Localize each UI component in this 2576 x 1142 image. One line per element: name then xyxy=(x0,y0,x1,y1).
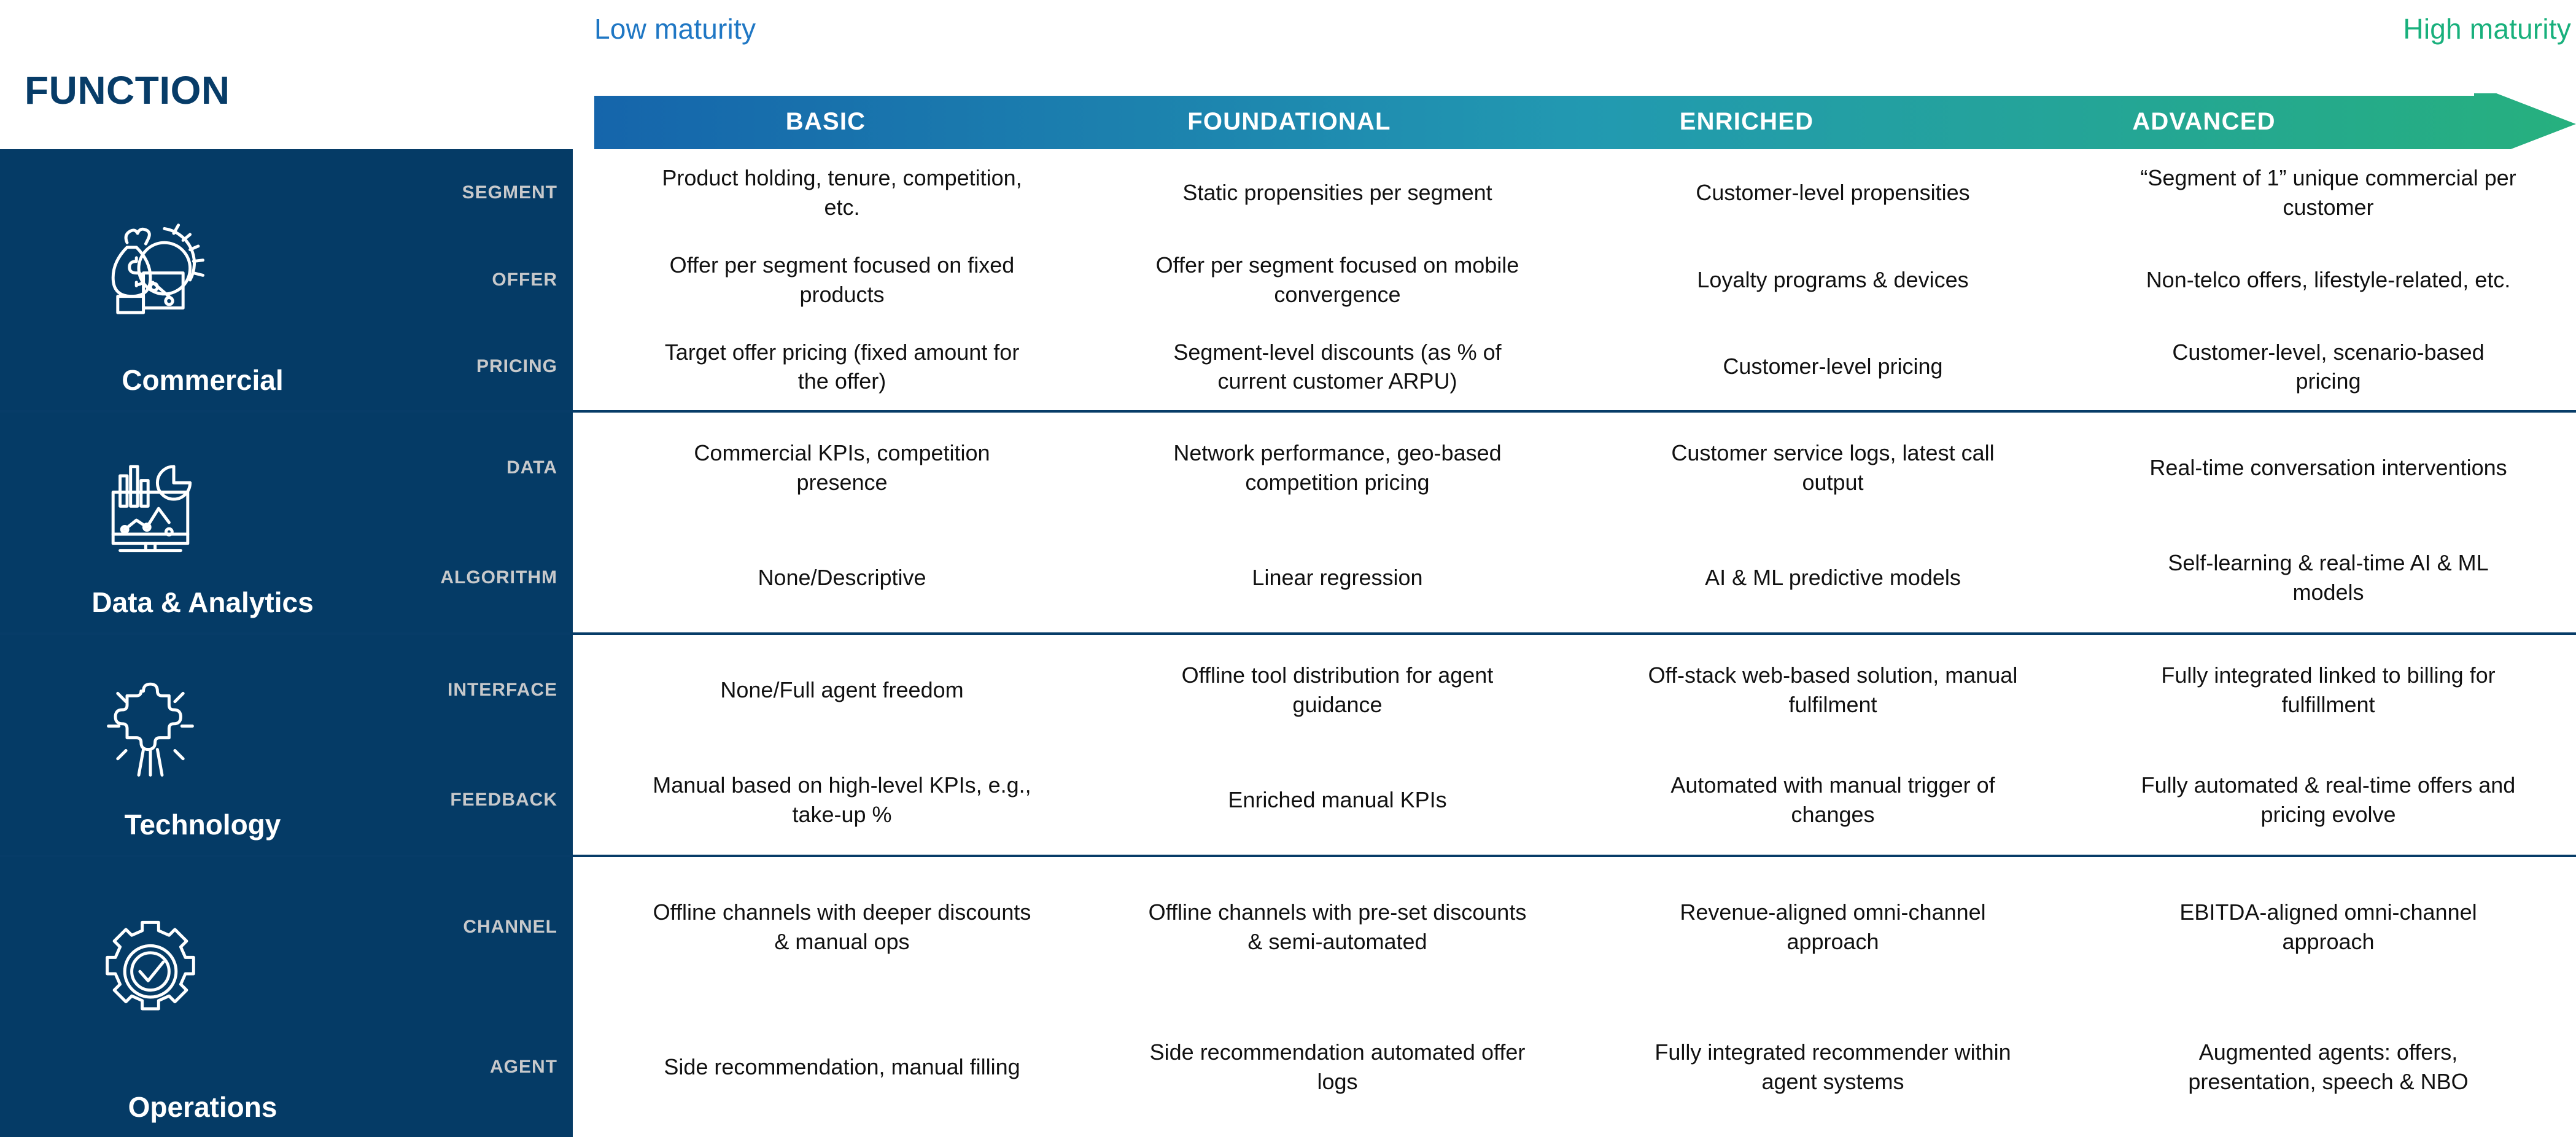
column-enriched: Customer service logs, latest call outpu… xyxy=(1585,413,2081,632)
cell-text: Automated with manual trigger of changes xyxy=(1643,771,2023,829)
function-name-technology: Technology xyxy=(18,808,387,841)
stage-label-advanced: ADVANCED xyxy=(1977,93,2431,150)
column-advanced: Real-time conversation interventions Sel… xyxy=(2081,413,2576,632)
column-advanced: EBITDA-aligned omni-channel approach Aug… xyxy=(2081,857,2576,1137)
table-cell: None/Full agent freedom xyxy=(594,635,1090,745)
column-enriched: Off-stack web-based solution, manual ful… xyxy=(1585,635,2081,855)
cell-text: Loyalty programs & devices xyxy=(1697,265,1968,295)
cell-text: Side recommendation, manual filling xyxy=(664,1052,1020,1082)
dimension-label-interface: INTERFACE xyxy=(336,635,557,745)
cell-text: None/Descriptive xyxy=(758,563,926,592)
function-cells-commercial: Product holding, tenure, competition, et… xyxy=(594,149,2576,410)
high-maturity-label: High maturity xyxy=(2403,12,2571,45)
maturity-matrix: Commercial SEGMENT OFFER PRICING Product… xyxy=(0,149,2576,1142)
cell-text: Offer per segment focused on fixed produ… xyxy=(652,251,1033,309)
table-cell: Offline tool distribution for agent guid… xyxy=(1090,635,1585,745)
table-cell: EBITDA-aligned omni-channel approach xyxy=(2081,857,2576,997)
column-basic: Offline channels with deeper discounts &… xyxy=(594,857,1090,1137)
table-cell: Customer service logs, latest call outpu… xyxy=(1585,413,2081,522)
cell-text: Fully integrated recommender within agen… xyxy=(1643,1038,2023,1096)
table-cell: Target offer pricing (fixed amount for t… xyxy=(594,323,1090,410)
table-cell: Manual based on high-level KPIs, e.g., t… xyxy=(594,745,1090,855)
cell-text: Real-time conversation interventions xyxy=(2149,453,2507,483)
function-name-commercial: Commercial xyxy=(18,363,387,397)
dimension-label-data: DATA xyxy=(336,413,557,522)
puzzle-idea-icon xyxy=(92,672,209,789)
cell-text: Segment-level discounts (as % of current… xyxy=(1147,338,1528,396)
cell-text: Static propensities per segment xyxy=(1182,178,1492,208)
panel-gutter xyxy=(573,413,594,632)
gear-check-icon xyxy=(92,913,209,1030)
cell-text: Off-stack web-based solution, manual ful… xyxy=(1643,661,2023,719)
table-cell: Customer-level propensities xyxy=(1585,149,2081,236)
column-enriched: Revenue-aligned omni-channel approach Fu… xyxy=(1585,857,2081,1137)
cell-text: Network performance, geo-based competiti… xyxy=(1147,438,1528,497)
dimension-label-agent: AGENT xyxy=(336,997,557,1137)
dimension-label-segment: SEGMENT xyxy=(336,149,557,236)
page-title: FUNCTION xyxy=(25,68,230,113)
dimension-label-offer: OFFER xyxy=(336,236,557,324)
table-cell: Commercial KPIs, competition presence xyxy=(594,413,1090,522)
function-cells-technology: None/Full agent freedom Manual based on … xyxy=(594,635,2576,855)
cell-text: Non-telco offers, lifestyle-related, etc… xyxy=(2146,265,2511,295)
function-row-operations: Operations CHANNEL AGENT Offline channel… xyxy=(0,855,2576,1137)
table-cell: Segment-level discounts (as % of current… xyxy=(1090,323,1585,410)
cell-text: Offer per segment focused on mobile conv… xyxy=(1147,251,1528,309)
monitor-analytics-icon xyxy=(92,450,209,567)
table-cell: Offline channels with deeper discounts &… xyxy=(594,857,1090,997)
dimension-label-algorithm: ALGORITHM xyxy=(336,522,557,632)
panel-gutter xyxy=(573,635,594,855)
table-cell: Customer-level pricing xyxy=(1585,323,2081,410)
function-row-data-analytics: Data & Analytics DATA ALGORITHM Commerci… xyxy=(0,410,2576,632)
table-cell: Linear regression xyxy=(1090,522,1585,632)
table-cell: Enriched manual KPIs xyxy=(1090,745,1585,855)
column-foundational: Offline tool distribution for agent guid… xyxy=(1090,635,1585,855)
column-foundational: Network performance, geo-based competiti… xyxy=(1090,413,1585,632)
table-cell: Customer-level, scenario-based pricing xyxy=(2081,323,2576,410)
table-cell: Fully automated & real-time offers and p… xyxy=(2081,745,2576,855)
table-cell: Self-learning & real-time AI & ML models xyxy=(2081,522,2576,632)
table-cell: “Segment of 1” unique commercial per cus… xyxy=(2081,149,2576,236)
cell-text: None/Full agent freedom xyxy=(720,675,963,705)
table-cell: None/Descriptive xyxy=(594,522,1090,632)
cell-text: Side recommendation automated offer logs xyxy=(1147,1038,1528,1096)
table-cell: Static propensities per segment xyxy=(1090,149,1585,236)
table-cell: Non-telco offers, lifestyle-related, etc… xyxy=(2081,236,2576,324)
cell-text: Customer-level pricing xyxy=(1723,352,1942,381)
dimension-labels-technology: INTERFACE FEEDBACK xyxy=(336,635,557,855)
table-cell: Augmented agents: offers, presentation, … xyxy=(2081,997,2576,1137)
function-cells-operations: Offline channels with deeper discounts &… xyxy=(594,857,2576,1137)
table-cell: Real-time conversation interventions xyxy=(2081,413,2576,522)
column-foundational: Static propensities per segment Offer pe… xyxy=(1090,149,1585,410)
function-name-operations: Operations xyxy=(18,1090,387,1124)
panel-gutter xyxy=(573,149,594,410)
cell-text: Offline channels with pre-set discounts … xyxy=(1147,898,1528,956)
table-cell: Offline channels with pre-set discounts … xyxy=(1090,857,1585,997)
table-cell: Automated with manual trigger of changes xyxy=(1585,745,2081,855)
cell-text: AI & ML predictive models xyxy=(1705,563,1961,592)
function-name-data-analytics: Data & Analytics xyxy=(18,586,387,619)
stage-label-basic: BASIC xyxy=(589,93,1062,150)
cell-text: Offline channels with deeper discounts &… xyxy=(652,898,1033,956)
cell-text: “Segment of 1” unique commercial per cus… xyxy=(2138,163,2519,222)
column-foundational: Offline channels with pre-set discounts … xyxy=(1090,857,1585,1137)
function-cells-data-analytics: Commercial KPIs, competition presence No… xyxy=(594,413,2576,632)
dimension-label-feedback: FEEDBACK xyxy=(336,745,557,855)
money-bag-pie-chart-icon xyxy=(92,208,209,324)
function-panel-commercial: Commercial SEGMENT OFFER PRICING xyxy=(0,149,573,410)
column-enriched: Customer-level propensities Loyalty prog… xyxy=(1585,149,2081,410)
stage-label-foundational: FOUNDATIONAL xyxy=(1062,93,1516,150)
low-maturity-label: Low maturity xyxy=(594,12,756,45)
table-cell: Offer per segment focused on fixed produ… xyxy=(594,236,1090,324)
cell-text: Revenue-aligned omni-channel approach xyxy=(1643,898,2023,956)
table-cell: Fully integrated recommender within agen… xyxy=(1585,997,2081,1137)
column-advanced: Fully integrated linked to billing for f… xyxy=(2081,635,2576,855)
dimension-label-pricing: PRICING xyxy=(336,323,557,410)
cell-text: Augmented agents: offers, presentation, … xyxy=(2138,1038,2519,1096)
cell-text: Fully integrated linked to billing for f… xyxy=(2138,661,2519,719)
stage-label-enriched: ENRICHED xyxy=(1516,93,1977,150)
table-cell: Offer per segment focused on mobile conv… xyxy=(1090,236,1585,324)
cell-text: Enriched manual KPIs xyxy=(1228,785,1446,815)
cell-text: Commercial KPIs, competition presence xyxy=(652,438,1033,497)
cell-text: Customer-level, scenario-based pricing xyxy=(2138,338,2519,396)
table-cell: AI & ML predictive models xyxy=(1585,522,2081,632)
table-cell: Fully integrated linked to billing for f… xyxy=(2081,635,2576,745)
cell-text: Customer service logs, latest call outpu… xyxy=(1643,438,2023,497)
function-panel-data-analytics: Data & Analytics DATA ALGORITHM xyxy=(0,413,573,632)
dimension-labels-commercial: SEGMENT OFFER PRICING xyxy=(336,149,557,410)
function-panel-technology: Technology INTERFACE FEEDBACK xyxy=(0,635,573,855)
column-basic: Product holding, tenure, competition, et… xyxy=(594,149,1090,410)
cell-text: Offline tool distribution for agent guid… xyxy=(1147,661,1528,719)
column-basic: None/Full agent freedom Manual based on … xyxy=(594,635,1090,855)
cell-text: Linear regression xyxy=(1252,563,1422,592)
function-row-technology: Technology INTERFACE FEEDBACK None/Full … xyxy=(0,632,2576,855)
table-cell: Revenue-aligned omni-channel approach xyxy=(1585,857,2081,997)
maturity-arrow: BASIC FOUNDATIONAL ENRICHED ADVANCED xyxy=(589,93,2576,155)
cell-text: Customer-level propensities xyxy=(1696,178,1969,208)
table-cell: Product holding, tenure, competition, et… xyxy=(594,149,1090,236)
cell-text: Target offer pricing (fixed amount for t… xyxy=(652,338,1033,396)
cell-text: Product holding, tenure, competition, et… xyxy=(652,163,1033,222)
table-cell: Side recommendation, manual filling xyxy=(594,997,1090,1137)
column-advanced: “Segment of 1” unique commercial per cus… xyxy=(2081,149,2576,410)
dimension-labels-data-analytics: DATA ALGORITHM xyxy=(336,413,557,632)
dimension-label-channel: CHANNEL xyxy=(336,857,557,997)
function-panel-operations: Operations CHANNEL AGENT xyxy=(0,857,573,1137)
column-basic: Commercial KPIs, competition presence No… xyxy=(594,413,1090,632)
table-cell: Network performance, geo-based competiti… xyxy=(1090,413,1585,522)
dimension-labels-operations: CHANNEL AGENT xyxy=(336,857,557,1137)
cell-text: Self-learning & real-time AI & ML models xyxy=(2138,548,2519,607)
cell-text: Fully automated & real-time offers and p… xyxy=(2138,771,2519,829)
function-row-commercial: Commercial SEGMENT OFFER PRICING Product… xyxy=(0,149,2576,410)
cell-text: Manual based on high-level KPIs, e.g., t… xyxy=(652,771,1033,829)
table-cell: Side recommendation automated offer logs xyxy=(1090,997,1585,1137)
table-cell: Loyalty programs & devices xyxy=(1585,236,2081,324)
panel-gutter xyxy=(573,857,594,1137)
table-cell: Off-stack web-based solution, manual ful… xyxy=(1585,635,2081,745)
cell-text: EBITDA-aligned omni-channel approach xyxy=(2138,898,2519,956)
